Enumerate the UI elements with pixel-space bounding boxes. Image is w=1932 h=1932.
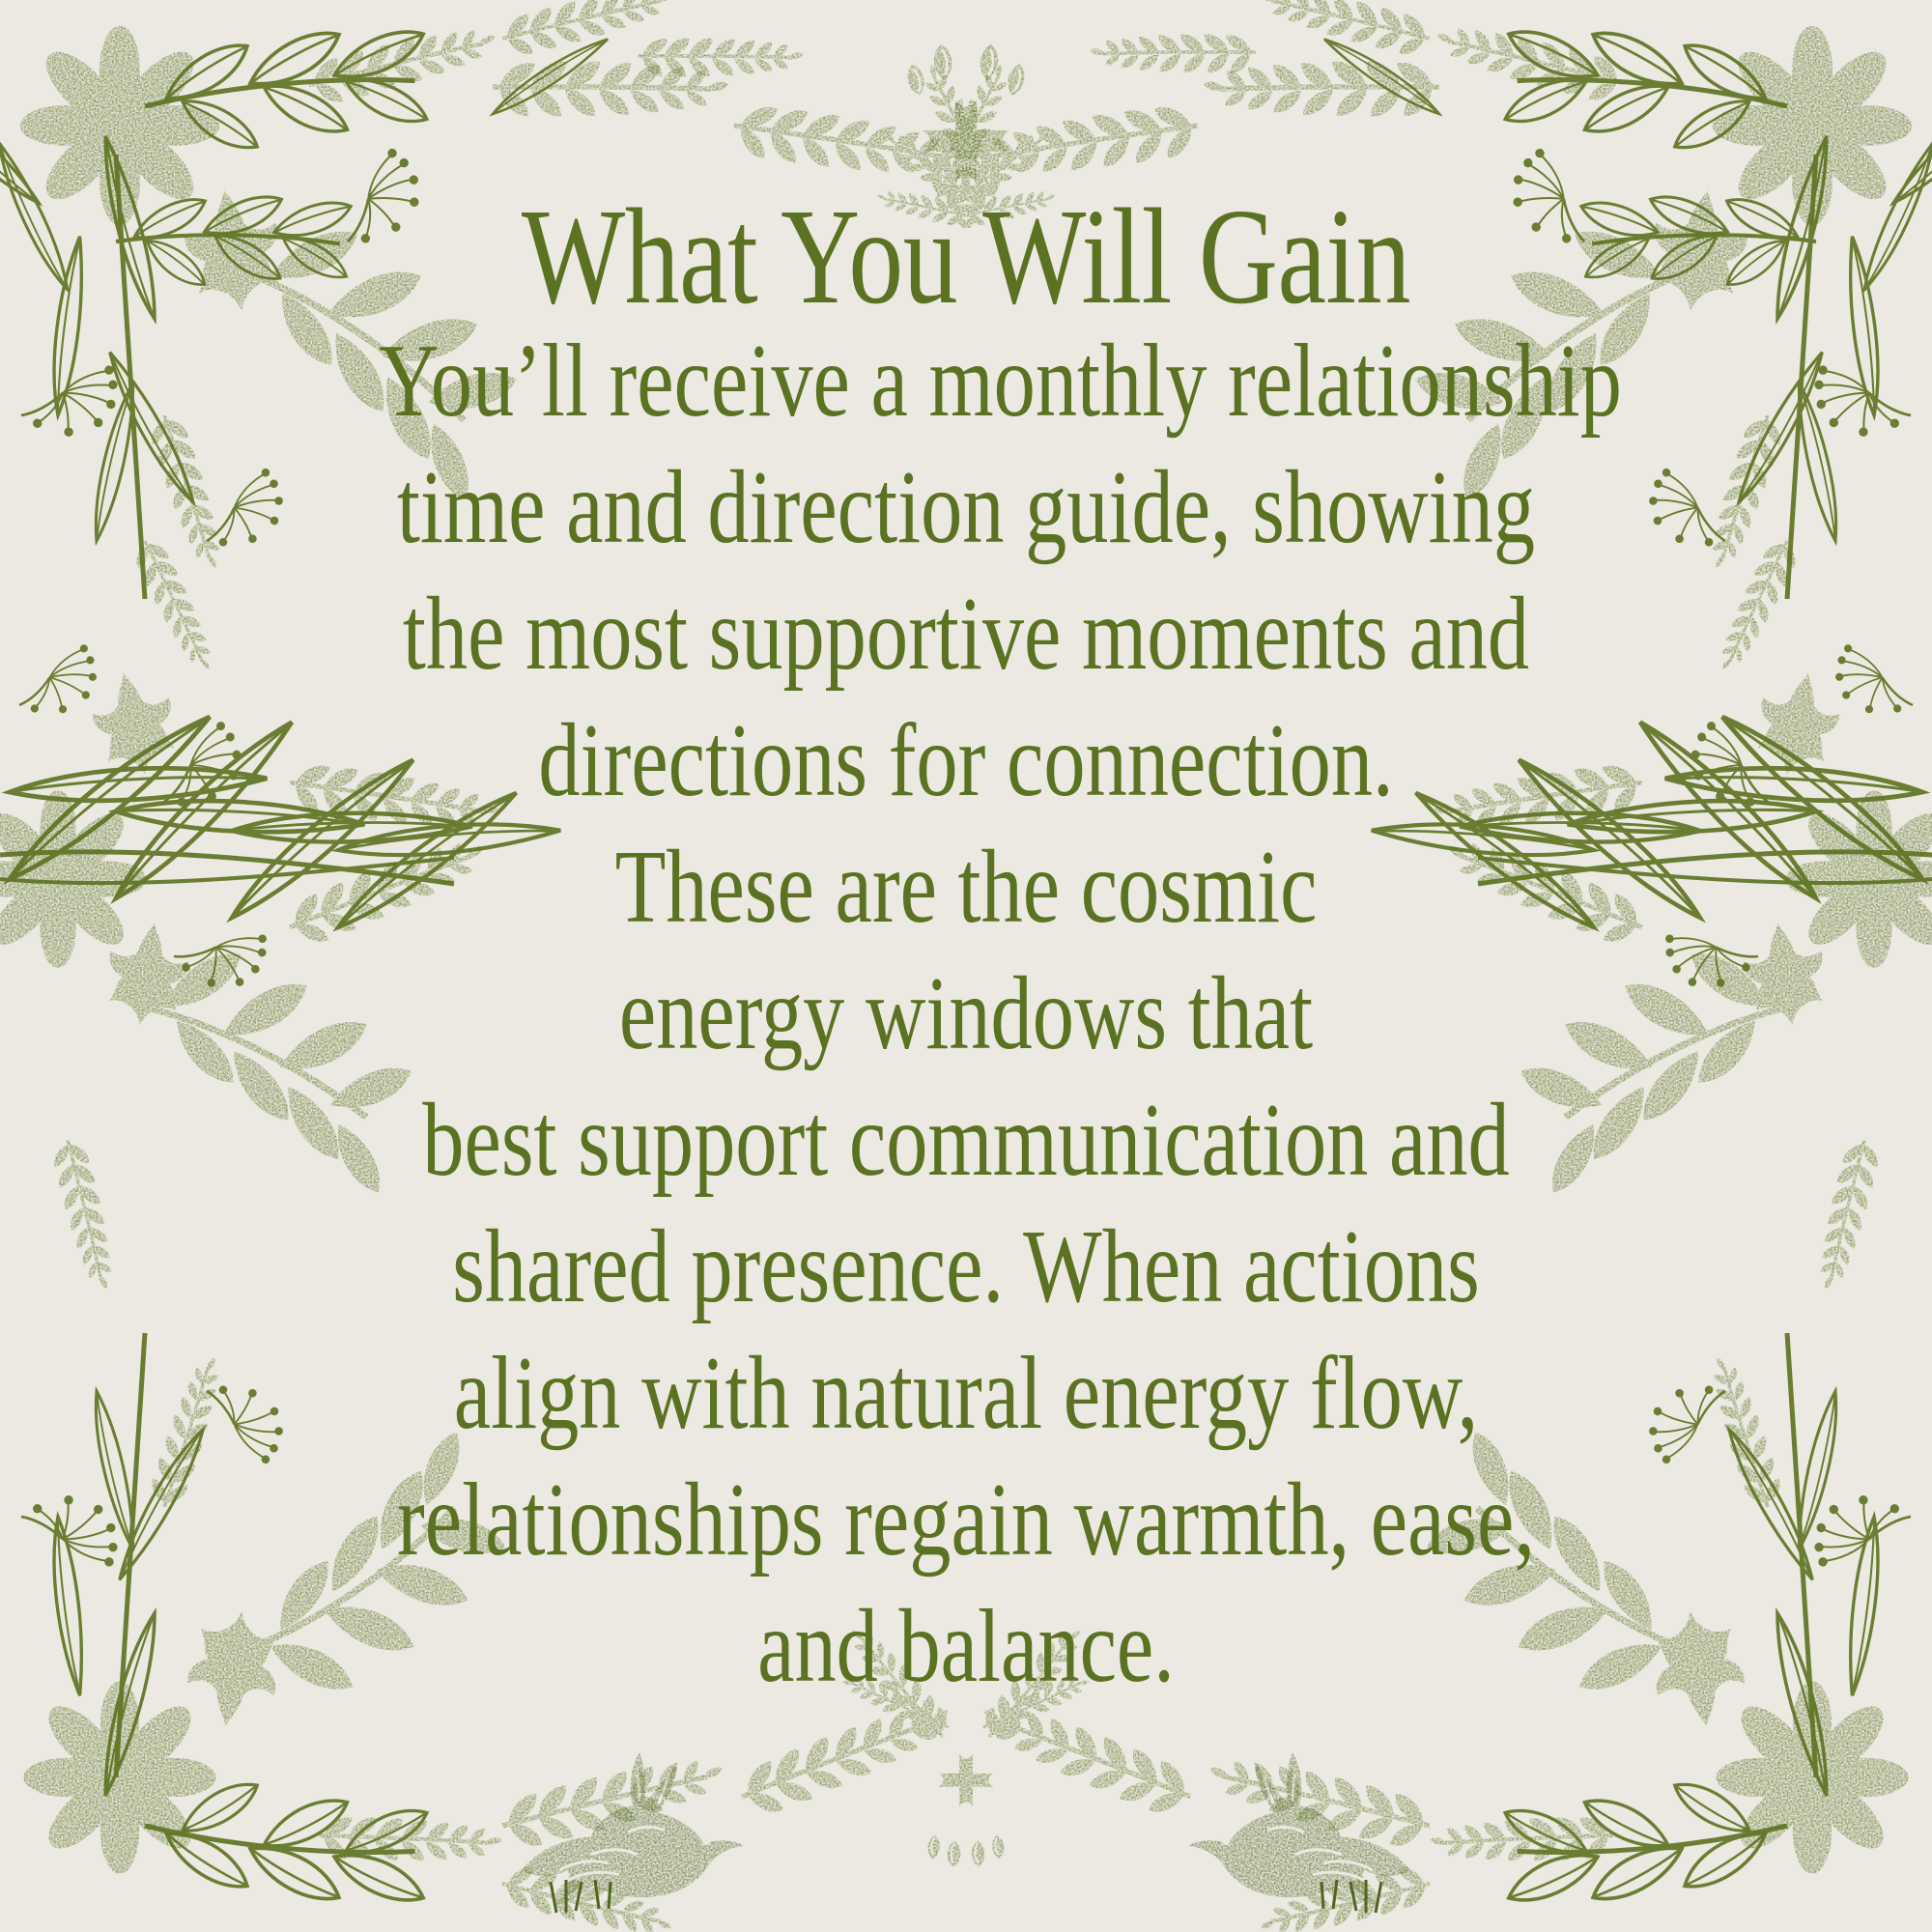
bottom-edge-foliage xyxy=(290,1768,1642,1913)
body-line: the most supportive moments and xyxy=(379,582,1553,687)
top-edge-foliage xyxy=(290,8,1642,124)
card-body: You’ll receive a monthly relationship ti… xyxy=(232,329,1700,1699)
body-line: time and direction guide, showing xyxy=(379,456,1553,560)
flared-cross-icon xyxy=(923,100,1009,182)
page-title: What You Will Gain xyxy=(379,189,1553,324)
quote-card: What You Will Gain You’ll receive a mont… xyxy=(0,0,1932,1932)
body-line: and balance. xyxy=(379,1595,1553,1699)
card-text-block: What You Will Gain You’ll receive a mont… xyxy=(232,189,1700,1721)
leaping-hare-left-icon xyxy=(502,1758,792,1922)
body-line: align with natural energy flow, xyxy=(379,1342,1553,1446)
flared-cross-icon xyxy=(939,1754,992,1805)
body-line: shared presence. When actions xyxy=(379,1215,1553,1320)
leaping-hare-right-icon xyxy=(1140,1758,1430,1922)
body-line: energy windows that xyxy=(379,962,1553,1066)
body-line: best support communication and xyxy=(379,1089,1553,1193)
body-line: You’ll receive a monthly relationship xyxy=(379,329,1553,434)
body-line: directions for connection. xyxy=(379,709,1553,813)
body-line: relationships regain warmth, ease, xyxy=(379,1468,1553,1573)
body-line: These are the cosmic xyxy=(379,836,1553,940)
